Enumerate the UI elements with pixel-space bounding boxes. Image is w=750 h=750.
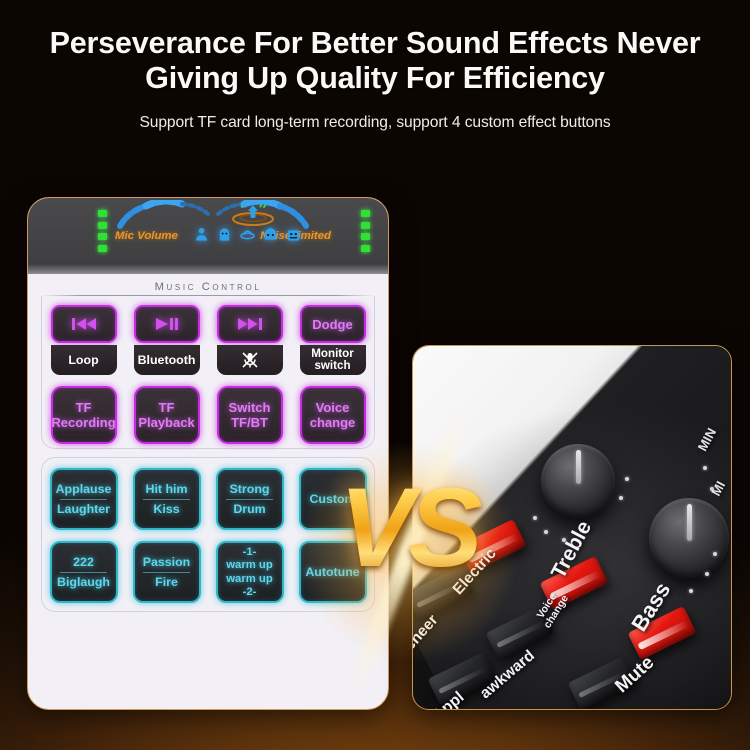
tf-playback-label: TF Playback — [134, 386, 200, 444]
led-segment — [98, 210, 107, 217]
effect-bottom-label: Biglaugh — [54, 575, 114, 590]
led-segment — [361, 210, 370, 217]
tick-dot — [533, 516, 537, 520]
page-subtitle: Support TF card long-term recording, sup… — [0, 113, 750, 132]
tick-dot — [619, 496, 623, 500]
previous-track-icon — [51, 305, 117, 343]
led-meter-left — [98, 210, 107, 252]
promo-banner: Perseverance For Better Sound Effects Ne… — [0, 0, 750, 750]
dodge-monitor-button[interactable]: Dodge Monitor switch — [300, 305, 366, 375]
voice-mode-icon-row — [194, 226, 301, 242]
tf-recording-button[interactable]: TF Recording — [51, 386, 117, 444]
effect-bottom-label: warm up -2- — [220, 573, 280, 599]
effect-top-label: Passion — [137, 555, 197, 570]
dodge-cap-label: Dodge — [300, 305, 366, 343]
next-track-icon — [217, 305, 283, 343]
effects-row-2: 222 Biglaugh Passion Fire -1- warm up wa… — [42, 541, 374, 603]
bass-knob[interactable] — [649, 498, 729, 578]
switch-tf-bt-button[interactable]: Switch TF/BT — [217, 386, 283, 444]
tick-dot — [625, 477, 629, 481]
effects-row-1: Applause Laughter Hit him Kiss Strong Dr… — [42, 468, 374, 530]
effect-bottom-label: Fire — [137, 575, 197, 590]
led-segment — [98, 245, 107, 252]
sound-card-device: Mic Volume Noise limited — [27, 197, 389, 710]
device-screen: Mic Volume Noise limited — [28, 198, 388, 274]
mic-volume-label: Mic Volume — [115, 230, 178, 242]
switch-tf-bt-label: Switch TF/BT — [217, 386, 283, 444]
voice-change-button[interactable]: Voice change — [300, 386, 366, 444]
tf-playback-button[interactable]: TF Playback — [134, 386, 200, 444]
led-meter-right — [361, 210, 370, 252]
tick-dot — [703, 466, 707, 470]
page-title: Perseverance For Better Sound Effects Ne… — [0, 26, 750, 96]
monitor-switch-label: Monitor switch — [300, 345, 366, 375]
voice-change-label: Voice change — [300, 386, 366, 444]
device-body: Music Control Loop — [28, 274, 388, 622]
tick-dot — [689, 589, 693, 593]
led-segment — [361, 222, 370, 229]
effect-top-label: Custom — [303, 492, 363, 507]
next-track-button[interactable] — [217, 305, 283, 375]
tf-recording-label: TF Recording — [51, 386, 117, 444]
effect-top-label: Autotune — [303, 565, 363, 580]
key-divider — [226, 499, 273, 500]
mic-mute-icon — [217, 345, 283, 375]
device-closeup-photo: Treble Bass MIN MI Electric cheer awkwar… — [412, 345, 732, 710]
loop-button[interactable]: Loop — [51, 305, 117, 375]
ufo-icon — [240, 226, 255, 242]
monster-icon — [286, 226, 301, 242]
key-divider — [143, 572, 190, 573]
play-pause-icon — [134, 305, 200, 343]
loop-label: Loop — [51, 345, 117, 375]
baby-icon — [217, 226, 232, 242]
key-divider — [60, 499, 107, 500]
222-biglaugh-button[interactable]: 222 Biglaugh — [50, 541, 118, 603]
person-icon — [194, 226, 209, 242]
effect-bottom-label: Laughter — [54, 502, 114, 517]
effect-top-label: 222 — [54, 555, 114, 570]
music-control-title: Music Control — [41, 281, 375, 295]
effect-bottom-label: Kiss — [137, 502, 197, 517]
strong-drum-button[interactable]: Strong Drum — [216, 468, 284, 530]
tick-dot — [705, 572, 709, 576]
robot-icon — [263, 226, 278, 242]
music-row-2: TF Recording TF Playback Switch TF/BT Vo… — [42, 386, 374, 444]
effect-top-label: Strong — [220, 482, 280, 497]
warm-up-button[interactable]: -1- warm up warm up -2- — [216, 541, 284, 603]
effect-bottom-label: Drum — [220, 502, 280, 517]
key-divider — [143, 499, 190, 500]
hit-him-kiss-button[interactable]: Hit him Kiss — [133, 468, 201, 530]
music-control-panel: Loop Bluetooth — [41, 296, 375, 449]
music-row-1: Loop Bluetooth — [42, 305, 374, 375]
play-pause-glyph — [155, 317, 179, 331]
applause-laughter-button[interactable]: Applause Laughter — [50, 468, 118, 530]
effect-top-label: Hit him — [137, 482, 197, 497]
mic-mute-glyph — [240, 350, 260, 370]
bluetooth-label: Bluetooth — [134, 345, 200, 375]
tick-dot — [713, 552, 717, 556]
key-divider — [60, 572, 107, 573]
sound-effects-panel: Applause Laughter Hit him Kiss Strong Dr… — [41, 457, 375, 612]
led-segment — [98, 222, 107, 229]
passion-fire-button[interactable]: Passion Fire — [133, 541, 201, 603]
tick-dot — [544, 530, 548, 534]
header: Perseverance For Better Sound Effects Ne… — [0, 0, 750, 132]
led-segment — [361, 245, 370, 252]
next-track-glyph — [237, 317, 263, 331]
led-segment — [361, 233, 370, 240]
led-segment — [98, 233, 107, 240]
effect-top-label: -1- warm up — [220, 546, 280, 572]
treble-knob[interactable] — [541, 444, 615, 518]
bluetooth-button[interactable]: Bluetooth — [134, 305, 200, 375]
custom-button[interactable]: Custom — [299, 468, 367, 530]
autotune-button[interactable]: Autotune — [299, 541, 367, 603]
previous-track-glyph — [71, 317, 97, 331]
effect-top-label: Applause — [54, 482, 114, 497]
